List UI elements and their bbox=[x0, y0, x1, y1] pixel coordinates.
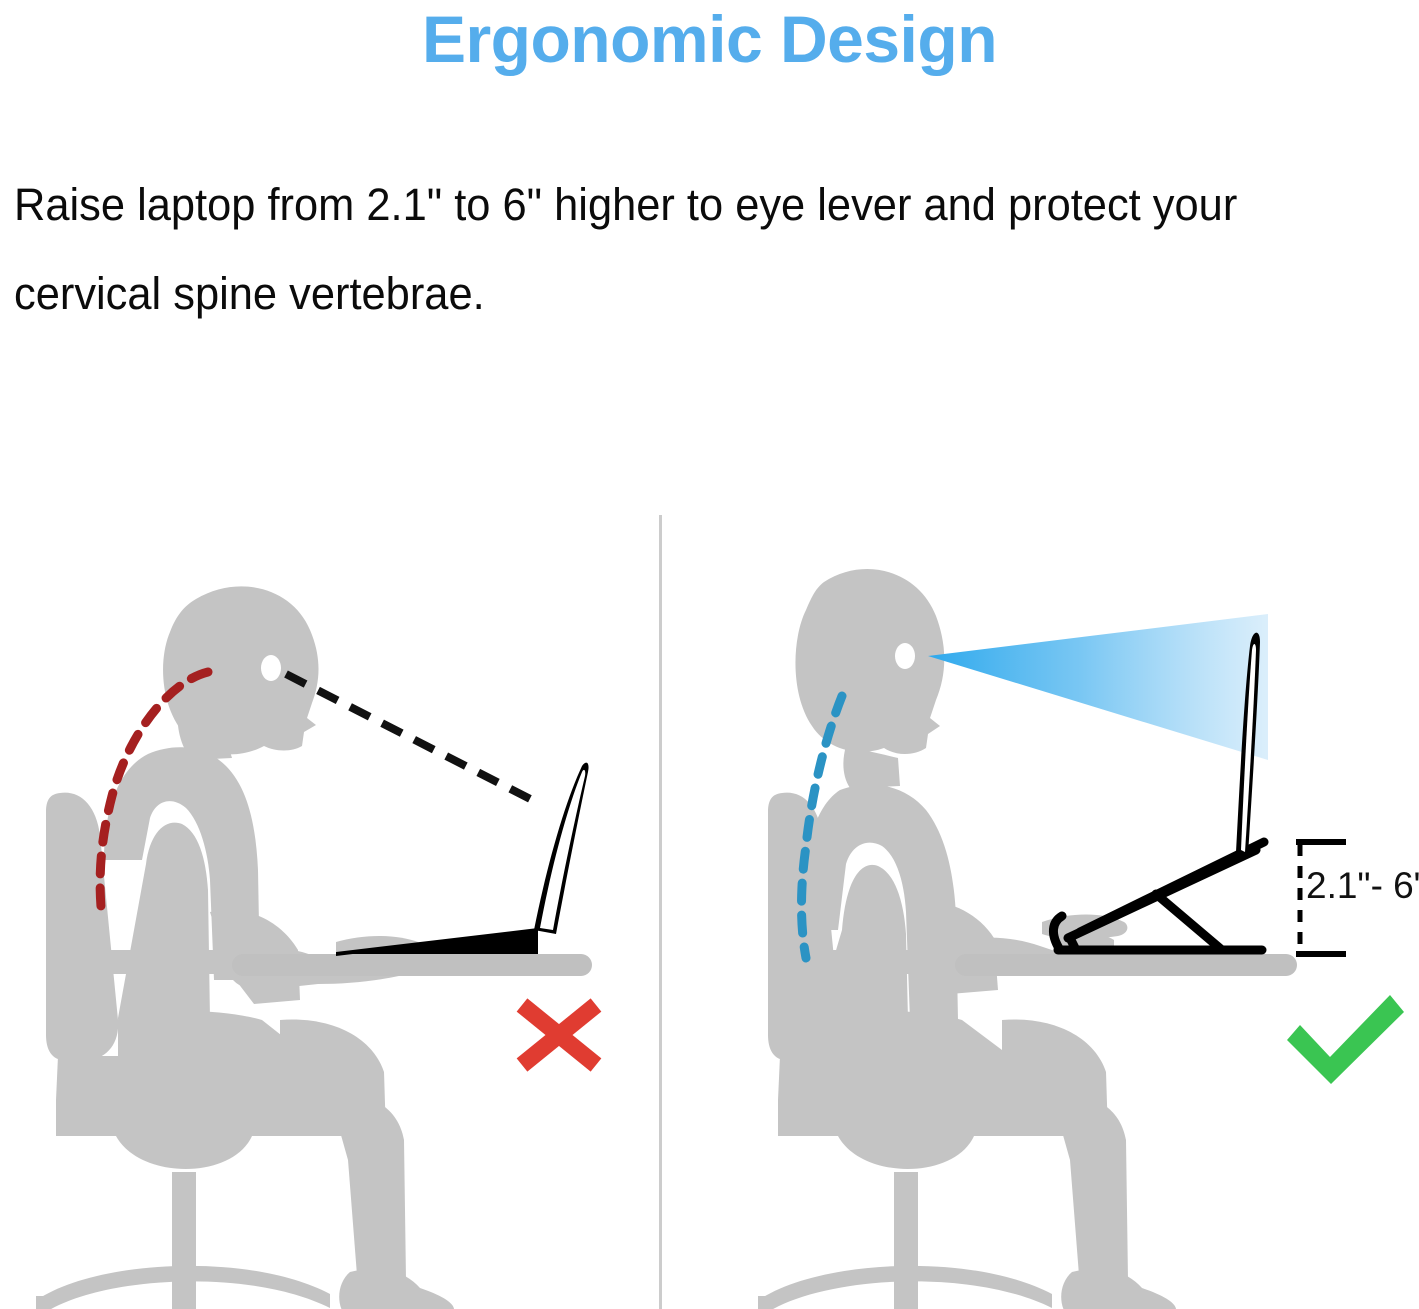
height-dimension-label: 2.1"- 6" bbox=[1306, 866, 1419, 906]
desk-right bbox=[955, 954, 1297, 976]
shin-left bbox=[330, 1095, 406, 1288]
hip-right bbox=[816, 1011, 1026, 1100]
laptop-left bbox=[336, 763, 589, 956]
foot-left bbox=[339, 1269, 454, 1309]
vision-cone-right bbox=[928, 614, 1268, 760]
check-mark-icon bbox=[1287, 995, 1404, 1084]
shin-right bbox=[1052, 1095, 1128, 1288]
correct-posture-figure-group bbox=[758, 569, 1404, 1309]
neck-right bbox=[843, 746, 900, 788]
page-subtitle: Raise laptop from 2.1" to 6" higher to e… bbox=[14, 160, 1355, 338]
infographic-page: Ergonomic Design Raise laptop from 2.1" … bbox=[0, 0, 1419, 1309]
eye-left bbox=[261, 655, 281, 681]
foot-right bbox=[1061, 1269, 1176, 1309]
eye-right bbox=[895, 643, 915, 669]
desk-left bbox=[232, 954, 592, 976]
sightline-left bbox=[286, 674, 536, 802]
laptop-stand-right bbox=[1053, 842, 1264, 950]
incorrect-posture-figure-group bbox=[36, 586, 596, 1309]
illustration-area: 2.1"- 6" bbox=[0, 460, 1419, 1309]
cross-mark-icon bbox=[522, 1005, 596, 1065]
person-head-right bbox=[795, 569, 944, 754]
illustration-svg-wrapper bbox=[0, 460, 1419, 1309]
page-title: Ergonomic Design bbox=[0, 2, 1419, 76]
